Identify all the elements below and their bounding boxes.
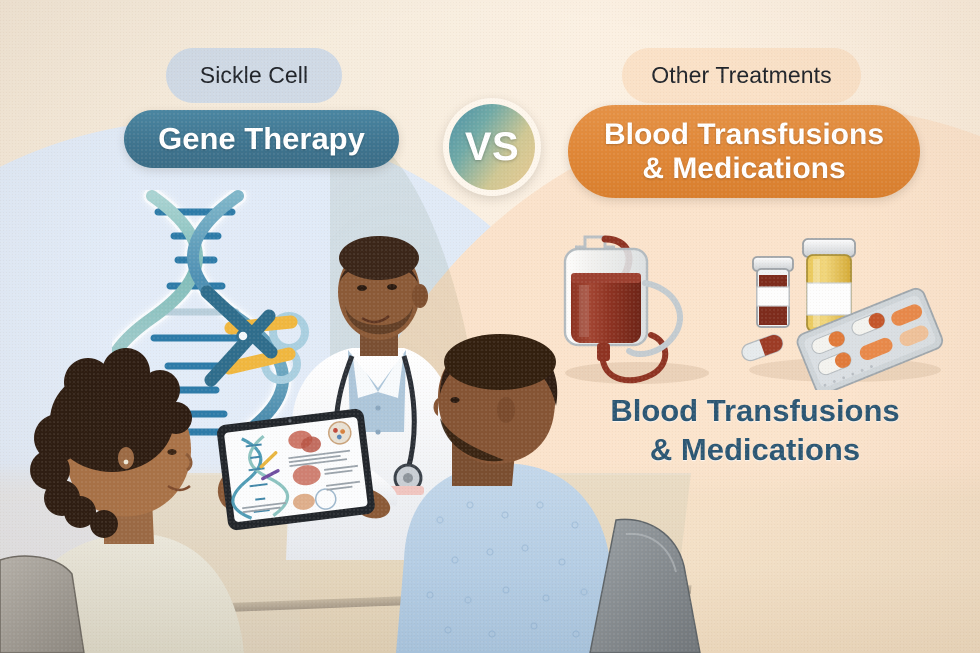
small-medicine-bottle-icon [753, 257, 793, 327]
right-main-label-line1: Blood Transfusions [604, 118, 884, 152]
medical-items-illustration [545, 225, 955, 390]
right-main-label: Blood Transfusions & Medications [568, 105, 920, 198]
capsule-icon [740, 333, 785, 363]
blood-bag-icon [565, 237, 680, 380]
chair-right [590, 519, 700, 653]
right-caption-line2: & Medications [590, 431, 920, 470]
right-caption-line1: Blood Transfusions [590, 392, 920, 431]
right-caption: Blood Transfusions & Medications [590, 392, 920, 470]
left-sub-label: Sickle Cell [166, 48, 342, 103]
vs-label: VS [465, 125, 519, 170]
vs-badge: VS [443, 98, 541, 196]
right-sub-label: Other Treatments [622, 48, 861, 103]
right-main-label-line2: & Medications [604, 152, 884, 186]
tablet-device [216, 408, 376, 531]
infographic-root: Sickle Cell Gene Therapy VS Other Treatm… [0, 0, 980, 653]
left-main-label: Gene Therapy [124, 110, 399, 168]
